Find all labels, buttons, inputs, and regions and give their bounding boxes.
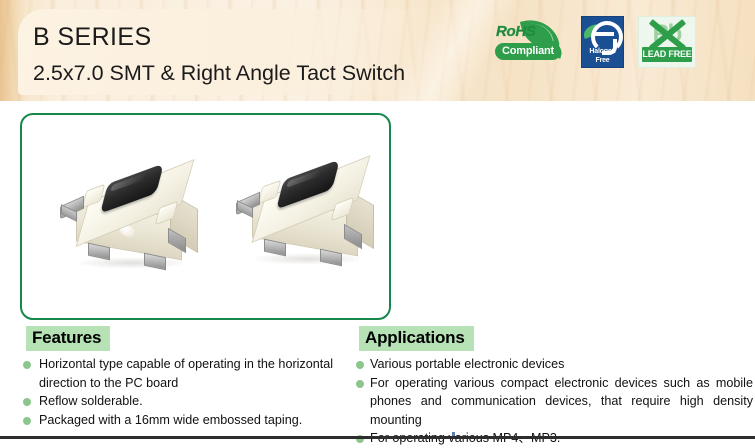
halogen-line1: Halogen [589,48,615,55]
lead-free-label: LEAD FREE [642,47,692,62]
applications-list: Various portable electronic devices For … [355,355,753,448]
list-item: Various portable electronic devices [355,355,753,374]
page-subtitle: 2.5x7.0 SMT & Right Angle Tact Switch [33,61,405,86]
lead-free-badge: Pb LEAD FREE [638,16,696,68]
page-title: B SERIES [33,23,152,52]
tact-switch-right [234,161,391,269]
rohs-label: RoHS [496,23,536,40]
rohs-compliant-label: Compliant [495,43,561,60]
list-item: For operating various compact electronic… [355,374,753,430]
halogen-line2: Free [596,57,610,64]
content-columns: Features Horizontal type capable of oper… [0,322,755,439]
halogen-free-badge: Halogen Free [581,16,624,68]
list-item: Horizontal type capable of operating in … [22,355,352,392]
tact-switch-left [58,165,218,273]
page-header: B SERIES 2.5x7.0 SMT & Right Angle Tact … [0,0,755,101]
list-item: Reflow solderable. [22,392,352,411]
certification-badges: RoHS Compliant Halogen Free Pb LEAD FREE [495,13,696,71]
list-item: Packaged with a 16mm wide embossed tapin… [22,411,352,430]
features-list: Horizontal type capable of operating in … [22,355,352,429]
features-heading: Features [26,326,110,351]
product-image-frame [20,113,391,320]
footer-rule [0,436,755,439]
e-letter-bar-icon [595,32,614,36]
applications-section: Applications Various portable electronic… [355,322,753,448]
features-section: Features Horizontal type capable of oper… [22,322,352,429]
applications-heading: Applications [359,326,474,351]
rohs-compliant-badge: RoHS Compliant [495,17,567,67]
halogen-free-label: Halogen Free [582,48,623,65]
